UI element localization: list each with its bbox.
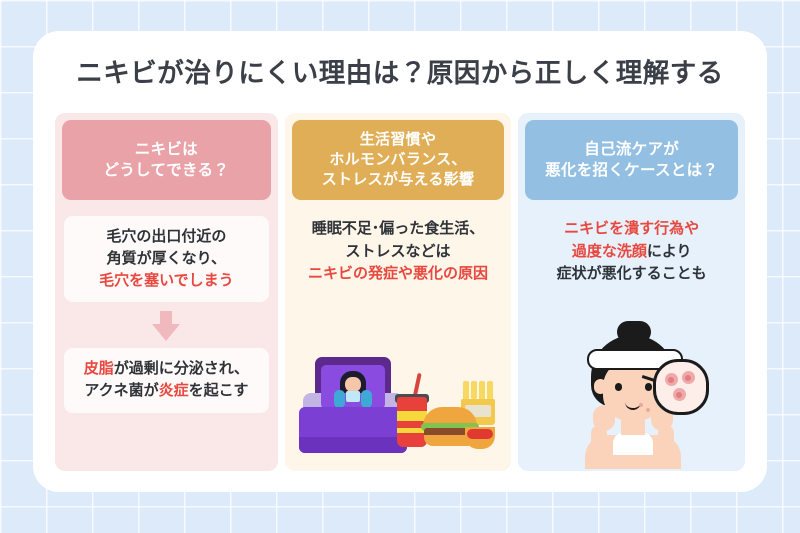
- column-3-header-line1: 自己流ケアが: [545, 139, 718, 160]
- column-1-body: 毛穴の出口付近の 角質が厚くなり、 毛穴を塞いでしまう 皮脂が過剰に分泌され、 …: [55, 200, 278, 471]
- column-3-text-line3: 症状が悪化することも: [527, 262, 736, 285]
- fast-food-icon: [395, 355, 499, 451]
- column-1-card-2-line1: 皮脂が過剰に分泌され、: [70, 358, 263, 380]
- column-1-card-2-part3: アクネ菌が: [84, 381, 158, 399]
- bed-and-fastfood-illustration: [285, 337, 512, 463]
- down-arrow-icon: [152, 311, 180, 341]
- column-2-header-line2: ホルモンバランス、: [322, 150, 475, 170]
- column-3-header: 自己流ケアが 悪化を招くケースとは？: [525, 120, 738, 200]
- infographic-canvas: ニキビが治りにくい理由は？原因から正しく理解する ニキビは どうしてできる？ 毛…: [0, 0, 800, 533]
- column-1-card-2-part1: 皮脂: [84, 359, 114, 377]
- column-1-card-2-line2: アクネ菌が炎症を起こす: [70, 380, 263, 402]
- woman-face-icon: [561, 321, 703, 469]
- woman-acne-illustration: [518, 319, 745, 469]
- column-self-care-worsening: 自己流ケアが 悪化を招くケースとは？ ニキビを潰す行為や 過度な洗顔により 症状…: [518, 113, 745, 471]
- page-title: ニキビが治りにくい理由は？原因から正しく理解する: [33, 51, 767, 90]
- column-3-header-line2: 悪化を招くケースとは？: [545, 160, 718, 181]
- column-why-acne-forms: ニキビは どうしてできる？ 毛穴の出口付近の 角質が厚くなり、 毛穴を塞いでしま…: [55, 113, 278, 471]
- content-card: ニキビが治りにくい理由は？原因から正しく理解する ニキビは どうしてできる？ 毛…: [33, 31, 767, 492]
- person-in-bed-icon: [299, 357, 407, 453]
- column-2-header-line3: ストレスが与える影響: [322, 170, 475, 190]
- magnified-acne-icon: [653, 359, 709, 415]
- columns-container: ニキビは どうしてできる？ 毛穴の出口付近の 角質が厚くなり、 毛穴を塞いでしま…: [55, 113, 745, 471]
- column-1-header: ニキビは どうしてできる？: [62, 120, 271, 200]
- column-1-card-2-part5: を起こす: [189, 381, 249, 399]
- column-3-text-line2: 過度な洗顔により: [527, 240, 736, 263]
- column-3-text-line2a: 過度な洗顔: [572, 242, 647, 260]
- column-2-text-line3: ニキビの発症や悪化の原因: [294, 262, 503, 285]
- column-1-card-2-part4: 炎症: [159, 381, 189, 399]
- column-lifestyle-hormone-stress: 生活習慣や ホルモンバランス、 ストレスが与える影響 睡眠不足･偏った食生活、 …: [285, 113, 512, 471]
- column-3-body: ニキビを潰す行為や 過度な洗顔により 症状が悪化することも: [518, 200, 745, 471]
- column-2-text: 睡眠不足･偏った食生活、 ストレスなどは ニキビの発症や悪化の原因: [294, 217, 503, 285]
- column-1-card-1: 毛穴の出口付近の 角質が厚くなり、 毛穴を塞いでしまう: [64, 216, 269, 302]
- column-2-body: 睡眠不足･偏った食生活、 ストレスなどは ニキビの発症や悪化の原因: [285, 200, 512, 471]
- column-3-text: ニキビを潰す行為や 過度な洗顔により 症状が悪化することも: [527, 217, 736, 285]
- column-1-card-1-line2: 角質が厚くなり、: [70, 248, 263, 270]
- column-1-card-1-line3: 毛穴を塞いでしまう: [70, 270, 263, 292]
- column-1-header-line1: ニキビは: [104, 139, 230, 160]
- column-1-header-line2: どうしてできる？: [104, 160, 230, 181]
- column-3-text-line2b: により: [647, 242, 692, 260]
- column-1-card-2-part2: が過剰に分泌され、: [114, 359, 249, 377]
- column-2-header: 生活習慣や ホルモンバランス、 ストレスが与える影響: [292, 120, 505, 200]
- column-1-card-1-line1: 毛穴の出口付近の: [70, 226, 263, 248]
- column-3-text-line1: ニキビを潰す行為や: [527, 217, 736, 240]
- column-2-text-line1: 睡眠不足･偏った食生活、: [294, 217, 503, 240]
- column-1-card-2: 皮脂が過剰に分泌され、 アクネ菌が炎症を起こす: [64, 348, 269, 413]
- column-2-header-line1: 生活習慣や: [322, 130, 475, 150]
- column-2-text-line2: ストレスなどは: [294, 240, 503, 263]
